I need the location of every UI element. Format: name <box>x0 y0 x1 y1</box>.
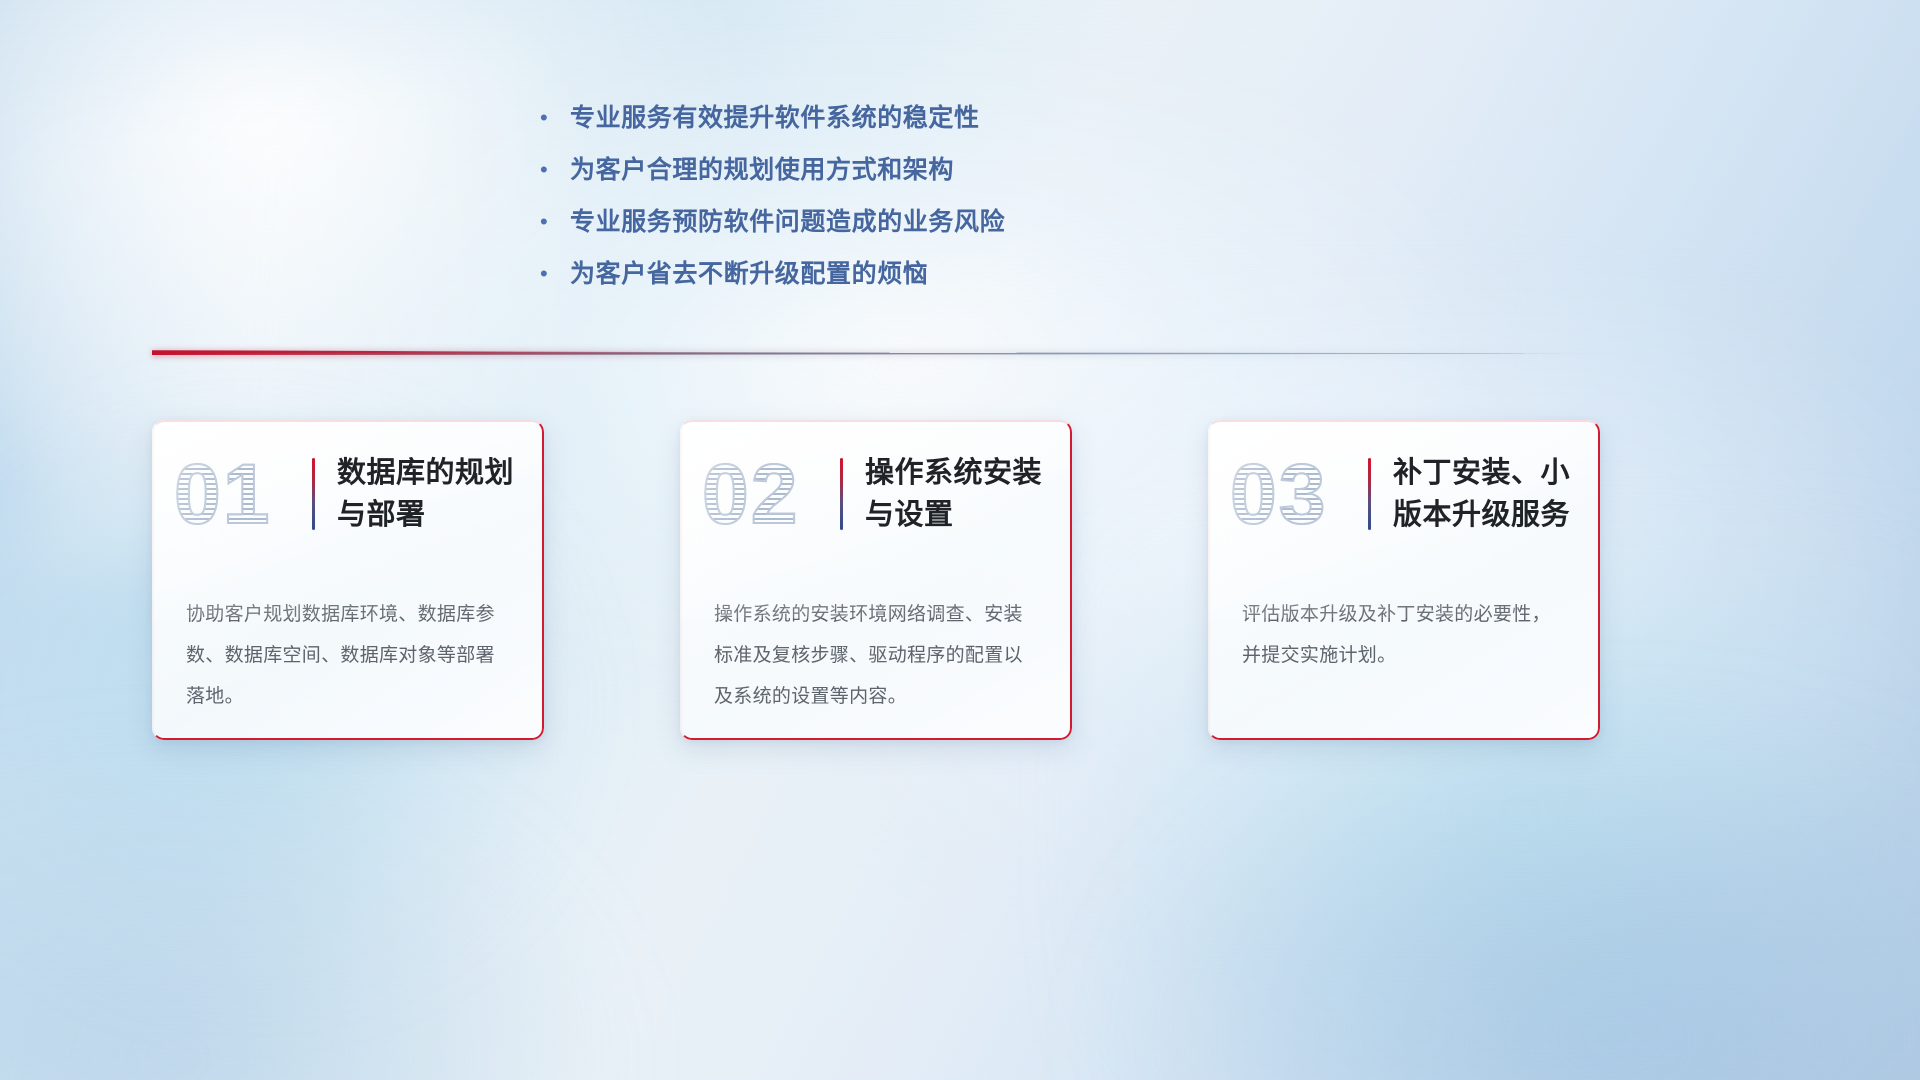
bullet-marker-icon: • <box>540 92 570 144</box>
list-item: • 专业服务预防软件问题造成的业务风险 <box>540 196 1180 248</box>
list-item-label: 专业服务预防软件问题造成的业务风险 <box>570 196 1005 248</box>
card-description: 协助客户规划数据库环境、数据库参数、数据库空间、数据库对象等部署落地。 <box>152 568 544 717</box>
card-number-01: 01 <box>174 448 306 540</box>
card-title: 操作系统安装 与设置 <box>865 452 1042 536</box>
card-accent-bar <box>840 458 843 530</box>
card-accent-bar <box>312 458 315 530</box>
service-card-group: 01 数据库的规划 与部署 协助客户规划数据库环境、数据库参数、数据库空间、数据… <box>152 420 1600 740</box>
card-header: 02 操作系统安装 与设置 <box>680 420 1072 568</box>
list-item-label: 为客户省去不断升级配置的烦恼 <box>570 248 928 300</box>
card-title: 数据库的规划 与部署 <box>337 452 514 536</box>
bullet-marker-icon: • <box>540 248 570 300</box>
list-item: • 为客户省去不断升级配置的烦恼 <box>540 248 1180 300</box>
key-points-list: • 专业服务有效提升软件系统的稳定性 • 为客户合理的规划使用方式和架构 • 专… <box>540 92 1180 300</box>
service-card-03[interactable]: 03 补丁安装、小 版本升级服务 评估版本升级及补丁安装的必要性，并提交实施计划… <box>1208 420 1600 740</box>
card-title: 补丁安装、小 版本升级服务 <box>1393 452 1570 536</box>
list-item-label: 专业服务有效提升软件系统的稳定性 <box>570 92 980 144</box>
card-header: 01 数据库的规划 与部署 <box>152 420 544 568</box>
card-accent-bar <box>1368 458 1371 530</box>
list-item: • 为客户合理的规划使用方式和架构 <box>540 144 1180 196</box>
service-card-01[interactable]: 01 数据库的规划 与部署 协助客户规划数据库环境、数据库参数、数据库空间、数据… <box>152 420 544 740</box>
card-number-02: 02 <box>702 448 834 540</box>
card-header: 03 补丁安装、小 版本升级服务 <box>1208 420 1600 568</box>
list-item: • 专业服务有效提升软件系统的稳定性 <box>540 92 1180 144</box>
service-card-02[interactable]: 02 操作系统安装 与设置 操作系统的安装环境网络调查、安装标准及复核步骤、驱动… <box>680 420 1072 740</box>
bullet-marker-icon: • <box>540 196 570 248</box>
card-number-03: 03 <box>1230 448 1362 540</box>
card-description: 评估版本升级及补丁安装的必要性，并提交实施计划。 <box>1208 568 1600 676</box>
list-item-label: 为客户合理的规划使用方式和架构 <box>570 144 954 196</box>
section-divider <box>152 348 1600 360</box>
card-description: 操作系统的安装环境网络调查、安装标准及复核步骤、驱动程序的配置以及系统的设置等内… <box>680 568 1072 717</box>
bullet-marker-icon: • <box>540 144 570 196</box>
